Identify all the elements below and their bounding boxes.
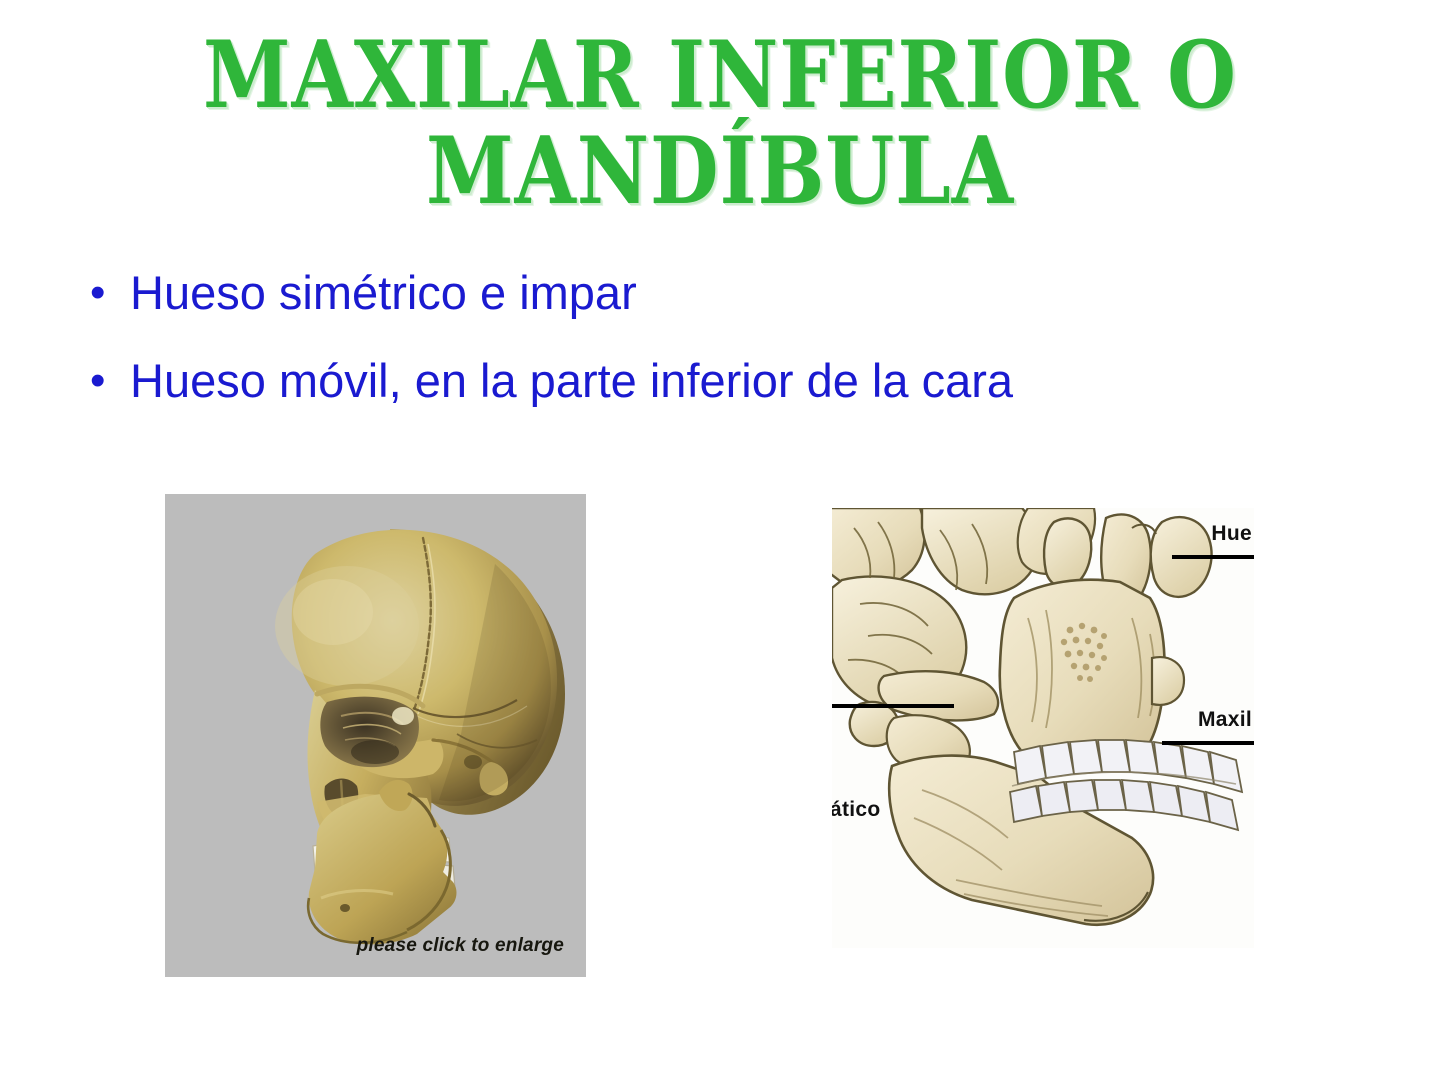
anatomy-label-maxilar: Maxil [1198, 708, 1252, 732]
bullet-list: • Hueso simétrico e impar • Hueso móvil,… [82, 262, 1372, 438]
bullet-text: Hueso simétrico e impar [130, 262, 1372, 324]
leader-line-hueso [1172, 555, 1254, 559]
skull-photo-figure[interactable]: please click to enlarge [165, 494, 586, 977]
page-title-line-2: MANDÍBULA [58, 124, 1383, 219]
anatomy-diagram-figure[interactable]: Hue Maxil ático [832, 508, 1254, 948]
bullet-marker-icon: • [82, 350, 130, 412]
anatomy-diagram-illustration [832, 508, 1254, 948]
page-title: MAXILAR INFERIOR O MANDÍBULA [0, 28, 1440, 211]
leader-line-maxilar [1162, 741, 1254, 745]
list-item: • Hueso simétrico e impar [82, 262, 1372, 324]
skull-photo-illustration [165, 494, 586, 977]
page-title-line-1: MAXILAR INFERIOR O [58, 28, 1383, 123]
anatomy-label-hueso: Hue [1211, 522, 1252, 546]
click-to-enlarge-caption: please click to enlarge [357, 935, 564, 957]
leader-line-cigomatico [832, 704, 954, 708]
list-item: • Hueso móvil, en la parte inferior de l… [82, 350, 1372, 412]
bullet-marker-icon: • [82, 262, 130, 324]
bullet-text: Hueso móvil, en la parte inferior de la … [130, 350, 1372, 412]
anatomy-label-cigomatico: ático [832, 798, 881, 822]
